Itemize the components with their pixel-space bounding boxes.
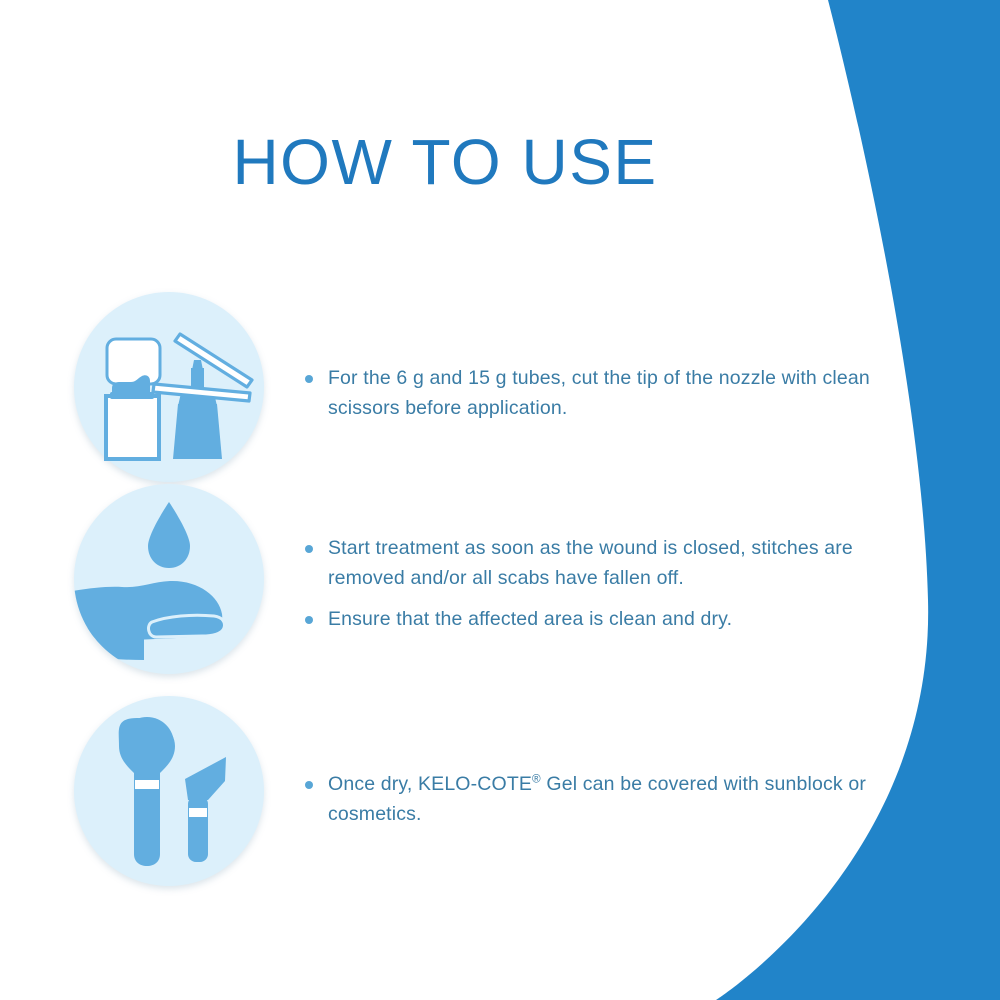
bullet-dot-icon: [305, 781, 313, 789]
list-item: For the 6 g and 15 g tubes, cut the tip …: [296, 364, 876, 423]
bullet-list: Start treatment as soon as the wound is …: [296, 534, 876, 635]
bullet-list: Once dry, KELO-COTE® Gel can be covered …: [296, 770, 876, 829]
tubes-and-scissors-icon: [74, 292, 264, 482]
infographic-canvas: HOW TO USE: [0, 0, 1000, 1000]
bullet-text: Ensure that the affected area is clean a…: [328, 608, 732, 630]
list-item: Once dry, KELO-COTE® Gel can be covered …: [296, 770, 876, 829]
bullet-text: Start treatment as soon as the wound is …: [328, 537, 853, 589]
water-drop-on-hand-icon: [74, 484, 264, 674]
bullet-text: For the 6 g and 15 g tubes, cut the tip …: [328, 367, 870, 419]
list-item: Start treatment as soon as the wound is …: [296, 534, 876, 593]
bullet-list: For the 6 g and 15 g tubes, cut the tip …: [296, 364, 876, 423]
bullet-text: Once dry, KELO-COTE® Gel can be covered …: [328, 773, 866, 825]
steps-list: For the 6 g and 15 g tubes, cut the tip …: [0, 0, 1000, 1000]
bullet-dot-icon: [305, 616, 313, 624]
list-item: Ensure that the affected area is clean a…: [296, 605, 876, 635]
bullet-dot-icon: [305, 375, 313, 383]
bullet-dot-icon: [305, 545, 313, 553]
cosmetic-brushes-icon: [74, 696, 264, 886]
